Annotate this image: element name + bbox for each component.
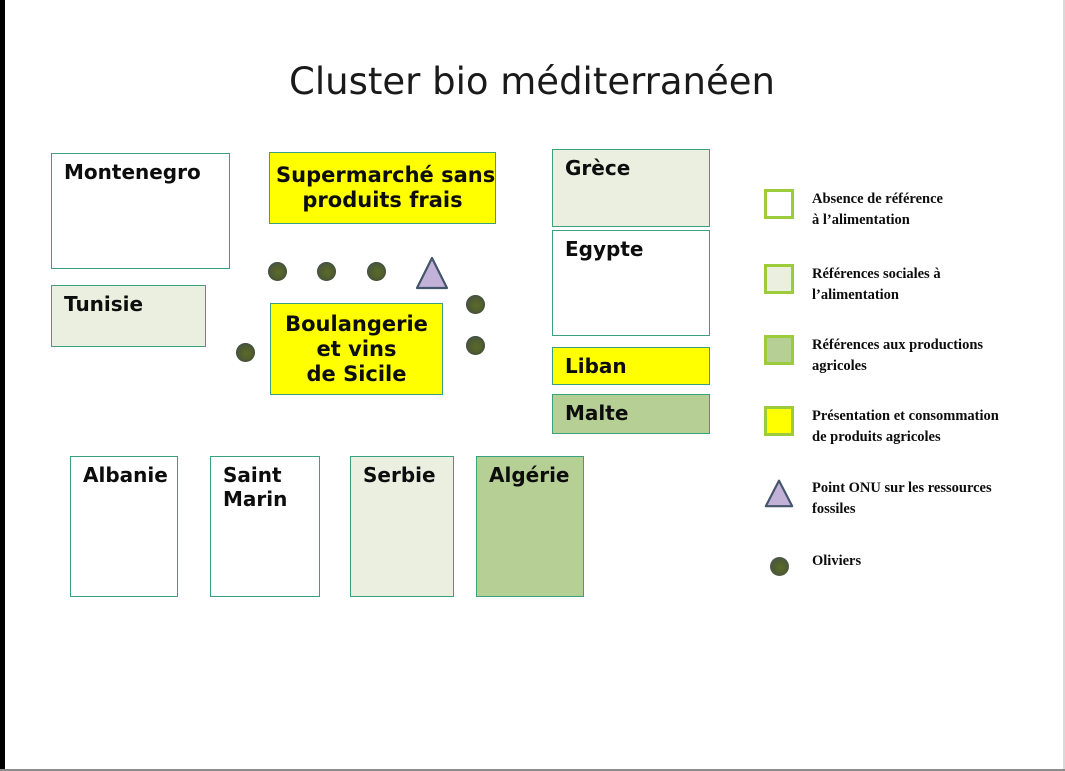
legend-label-line2: à l’alimentation bbox=[812, 210, 943, 231]
node-label: Algérie bbox=[477, 457, 583, 488]
node-supermarche[interactable]: Supermarché sansproduits frais bbox=[269, 152, 496, 224]
node-liban[interactable]: Liban bbox=[552, 347, 710, 385]
page-title: Cluster bio méditerranéen bbox=[262, 60, 802, 103]
node-label: Supermarché sansproduits frais bbox=[270, 163, 495, 213]
node-label: SaintMarin bbox=[211, 457, 319, 511]
legend-item-references-productions: Références aux productions agricoles bbox=[764, 335, 983, 377]
legend-item-oliviers: Oliviers bbox=[764, 551, 861, 581]
node-albanie[interactable]: Albanie bbox=[70, 456, 178, 597]
legend-label: Références aux productions agricoles bbox=[812, 335, 983, 377]
node-saint-marin[interactable]: SaintMarin bbox=[210, 456, 320, 597]
legend-label: Présentation et consommationde produits … bbox=[812, 406, 999, 448]
node-algerie[interactable]: Algérie bbox=[476, 456, 584, 597]
node-label: Serbie bbox=[351, 457, 453, 488]
node-label: Montenegro bbox=[52, 154, 229, 185]
legend-swatch-icon bbox=[764, 335, 794, 365]
legend-item-point-onu: Point ONU sur les ressourcesfossiles bbox=[764, 478, 992, 520]
legend-label: Point ONU sur les ressourcesfossiles bbox=[812, 478, 992, 520]
node-label-line: et vins bbox=[277, 337, 436, 362]
slide-canvas: Cluster bio méditerranéen MontenegroTuni… bbox=[0, 0, 1065, 771]
legend-label: Absence de référenceà l’alimentation bbox=[812, 189, 943, 231]
node-label: Grèce bbox=[553, 150, 709, 181]
olive-icon bbox=[317, 262, 336, 281]
node-label: Egypte bbox=[553, 231, 709, 262]
legend-label-line1: Point ONU sur les ressources bbox=[812, 480, 992, 496]
node-egypte[interactable]: Egypte bbox=[552, 230, 710, 336]
node-malte[interactable]: Malte bbox=[552, 394, 710, 434]
legend-swatch-icon bbox=[764, 189, 794, 219]
legend-item-presentation-consommation: Présentation et consommationde produits … bbox=[764, 406, 999, 448]
legend-label-line1: Oliviers bbox=[812, 553, 861, 569]
node-label-line: Marin bbox=[223, 488, 319, 512]
node-label: Liban bbox=[553, 348, 709, 379]
olive-icon bbox=[466, 336, 485, 355]
legend-item-absence-reference: Absence de référenceà l’alimentation bbox=[764, 189, 943, 231]
node-label-line: de Sicile bbox=[277, 361, 436, 386]
legend-label-line1: Références aux productions bbox=[812, 337, 983, 353]
olive-icon bbox=[236, 343, 255, 362]
legend-swatch-icon bbox=[764, 264, 794, 294]
olive-icon bbox=[367, 262, 386, 281]
node-label-line: Saint bbox=[223, 464, 319, 488]
legend-label-line2: fossiles bbox=[812, 499, 992, 520]
olive-icon bbox=[466, 295, 485, 314]
node-label: Boulangerieet vinsde Sicile bbox=[271, 312, 442, 386]
olive-icon bbox=[268, 262, 287, 281]
node-serbie[interactable]: Serbie bbox=[350, 456, 454, 597]
node-label: Malte bbox=[553, 395, 709, 426]
node-tunisie[interactable]: Tunisie bbox=[51, 285, 206, 347]
legend-label-line1: Présentation et consommation bbox=[812, 408, 999, 424]
onu-triangle-icon bbox=[415, 256, 449, 290]
legend-triangle-icon bbox=[764, 478, 794, 508]
node-label: Tunisie bbox=[52, 286, 205, 317]
node-grece[interactable]: Grèce bbox=[552, 149, 710, 227]
legend-label-line2: agricoles bbox=[812, 356, 983, 377]
node-boulangerie[interactable]: Boulangerieet vinsde Sicile bbox=[270, 303, 443, 395]
legend-label: Références sociales àl’alimentation bbox=[812, 264, 941, 306]
node-label: Albanie bbox=[71, 457, 177, 488]
legend-item-references-sociales: Références sociales àl’alimentation bbox=[764, 264, 941, 306]
legend-label: Oliviers bbox=[812, 551, 861, 572]
node-label-line: produits frais bbox=[276, 188, 489, 213]
node-montenegro[interactable]: Montenegro bbox=[51, 153, 230, 269]
legend-swatch-icon bbox=[764, 406, 794, 436]
node-label-line: Boulangerie bbox=[277, 312, 436, 337]
legend-label-line2: de produits agricoles bbox=[812, 427, 999, 448]
legend-label-line1: Absence de référence bbox=[812, 191, 943, 207]
legend-olive-icon bbox=[764, 551, 794, 581]
legend-label-line2: l’alimentation bbox=[812, 285, 941, 306]
node-label-line: Supermarché sans bbox=[276, 163, 489, 188]
legend-label-line1: Références sociales à bbox=[812, 266, 941, 282]
frame-left-border bbox=[0, 0, 5, 771]
